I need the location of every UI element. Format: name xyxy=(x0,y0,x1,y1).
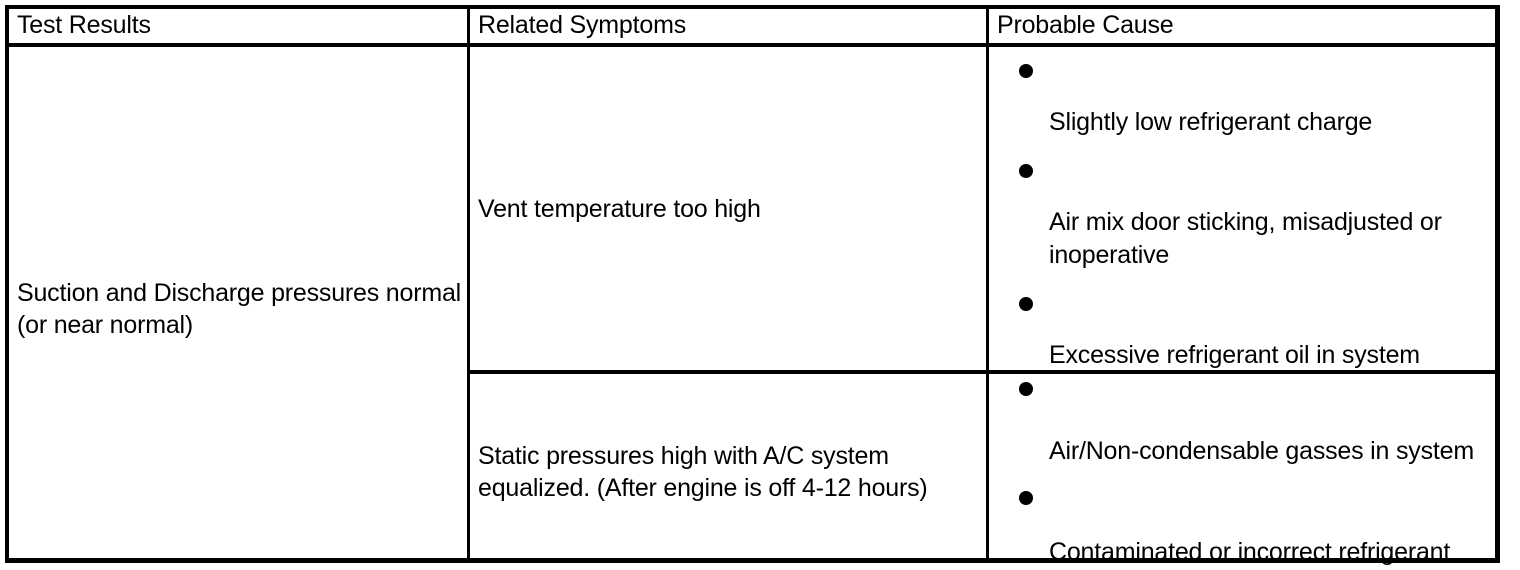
test-results-line-2: (or near normal) xyxy=(17,309,461,341)
column-header-related-symptoms: Related Symptoms xyxy=(470,9,986,43)
probable-cause-label: Air mix door sticking, misadjusted or in… xyxy=(1049,206,1494,272)
troubleshooting-table: Test Results Related Symptoms Probable C… xyxy=(5,5,1500,563)
probable-cause-cell-row-1: Slightly low refrigerant charge Air mix … xyxy=(989,47,1500,370)
probable-cause-label: Excessive refrigerant oil in system xyxy=(1049,339,1494,372)
bullet-icon xyxy=(1019,164,1033,178)
test-results-cell: Suction and Discharge pressures normal (… xyxy=(9,47,467,570)
probable-cause-label: Contaminated or incorrect refrigerant xyxy=(1049,536,1494,569)
bullet-icon xyxy=(1019,491,1033,505)
symptom-line-2: equalized. (After engine is off 4-12 hou… xyxy=(478,472,928,504)
probable-cause-label: Air/Non-condensable gasses in system xyxy=(1049,435,1494,468)
probable-cause-label: Slightly low refrigerant charge xyxy=(1049,106,1494,139)
symptom-line-1: Static pressures high with A/C system xyxy=(478,440,928,472)
bullet-icon xyxy=(1019,297,1033,311)
related-symptoms-cell-row-2: Static pressures high with A/C system eq… xyxy=(470,374,986,570)
probable-cause-cell-row-2: Air/Non-condensable gasses in system Con… xyxy=(989,374,1500,570)
bullet-icon xyxy=(1019,382,1033,396)
test-results-line-1: Suction and Discharge pressures normal xyxy=(17,277,461,309)
column-header-test-results: Test Results xyxy=(9,9,467,43)
related-symptoms-cell-row-1: Vent temperature too high xyxy=(470,47,986,370)
document-page: Test Results Related Symptoms Probable C… xyxy=(0,0,1520,568)
bullet-icon xyxy=(1019,64,1033,78)
symptom-line-1: Vent temperature too high xyxy=(478,193,761,225)
column-header-probable-cause: Probable Cause xyxy=(989,9,1500,43)
